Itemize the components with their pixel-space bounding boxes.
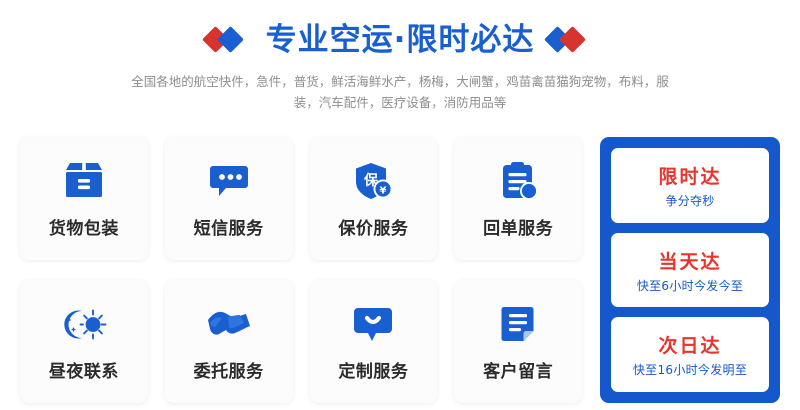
service-card-entrust[interactable]: 委托服务 bbox=[165, 280, 293, 403]
service-card-label: 回单服务 bbox=[483, 214, 553, 239]
clipboard-receipt-icon bbox=[495, 159, 541, 205]
service-card-customer-message[interactable]: 客户留言 bbox=[454, 280, 582, 403]
service-card-label: 货物包装 bbox=[49, 214, 119, 239]
main-content: 货物包装 短信服务 保 ¥ bbox=[0, 137, 800, 403]
promo-title: 限时达 bbox=[658, 162, 721, 189]
promo-title: 当天达 bbox=[658, 247, 721, 274]
title-row: 专业空运·限时必达 bbox=[0, 18, 800, 62]
service-card-label: 客户留言 bbox=[483, 357, 553, 382]
diamond-decoration-right-icon bbox=[548, 27, 594, 53]
promo-item-limited-time[interactable]: 限时达 争分夺秒 bbox=[611, 148, 769, 223]
page-title: 专业空运·限时必达 bbox=[266, 25, 535, 56]
box-icon bbox=[61, 159, 107, 205]
handshake-icon bbox=[204, 302, 254, 348]
red-diamond-icon bbox=[559, 26, 586, 53]
shield-insurance-icon: 保 ¥ bbox=[350, 159, 396, 205]
page-subtitle: 全国各地的航空快件，急件，普货，鲜活海鲜水产，杨梅，大闸蟹，鸡苗禽苗猫狗宠物，布… bbox=[130, 72, 670, 113]
promo-subtitle: 快至6小时今发今至 bbox=[637, 277, 743, 294]
service-card-label: 委托服务 bbox=[194, 357, 264, 382]
service-card-box-packing[interactable]: 货物包装 bbox=[20, 137, 148, 260]
service-card-insurance[interactable]: 保 ¥ 保价服务 bbox=[310, 137, 438, 260]
service-card-customization[interactable]: 定制服务 bbox=[310, 280, 438, 403]
service-card-day-night-contact[interactable]: 昼夜联系 bbox=[20, 280, 148, 403]
chevron-bubble-icon bbox=[350, 302, 396, 348]
page-header: 专业空运·限时必达 全国各地的航空快件，急件，普货，鲜活海鲜水产，杨梅，大闸蟹，… bbox=[0, 0, 800, 113]
service-card-sms[interactable]: 短信服务 bbox=[165, 137, 293, 260]
service-card-grid: 货物包装 短信服务 保 ¥ bbox=[20, 137, 582, 403]
service-card-label: 短信服务 bbox=[194, 214, 264, 239]
promo-title: 次日达 bbox=[658, 331, 721, 358]
promo-subtitle: 快至16小时今发明至 bbox=[633, 361, 747, 378]
blue-diamond-icon bbox=[217, 26, 244, 53]
promo-item-same-day[interactable]: 当天达 快至6小时今发今至 bbox=[611, 233, 769, 308]
service-card-label: 保价服务 bbox=[338, 214, 408, 239]
message-bubble-icon bbox=[206, 159, 252, 205]
service-card-label: 定制服务 bbox=[338, 357, 408, 382]
diamond-decoration-left-icon bbox=[206, 27, 252, 53]
service-card-label: 昼夜联系 bbox=[49, 357, 119, 382]
promo-subtitle: 争分夺秒 bbox=[665, 192, 714, 209]
day-night-icon bbox=[60, 302, 108, 348]
delivery-speed-panel: 限时达 争分夺秒 当天达 快至6小时今发今至 次日达 快至16小时今发明至 bbox=[600, 137, 780, 403]
note-document-icon bbox=[495, 302, 541, 348]
service-card-receipt[interactable]: 回单服务 bbox=[454, 137, 582, 260]
svg-text:¥: ¥ bbox=[380, 185, 387, 196]
promo-item-next-day[interactable]: 次日达 快至16小时今发明至 bbox=[611, 317, 769, 392]
